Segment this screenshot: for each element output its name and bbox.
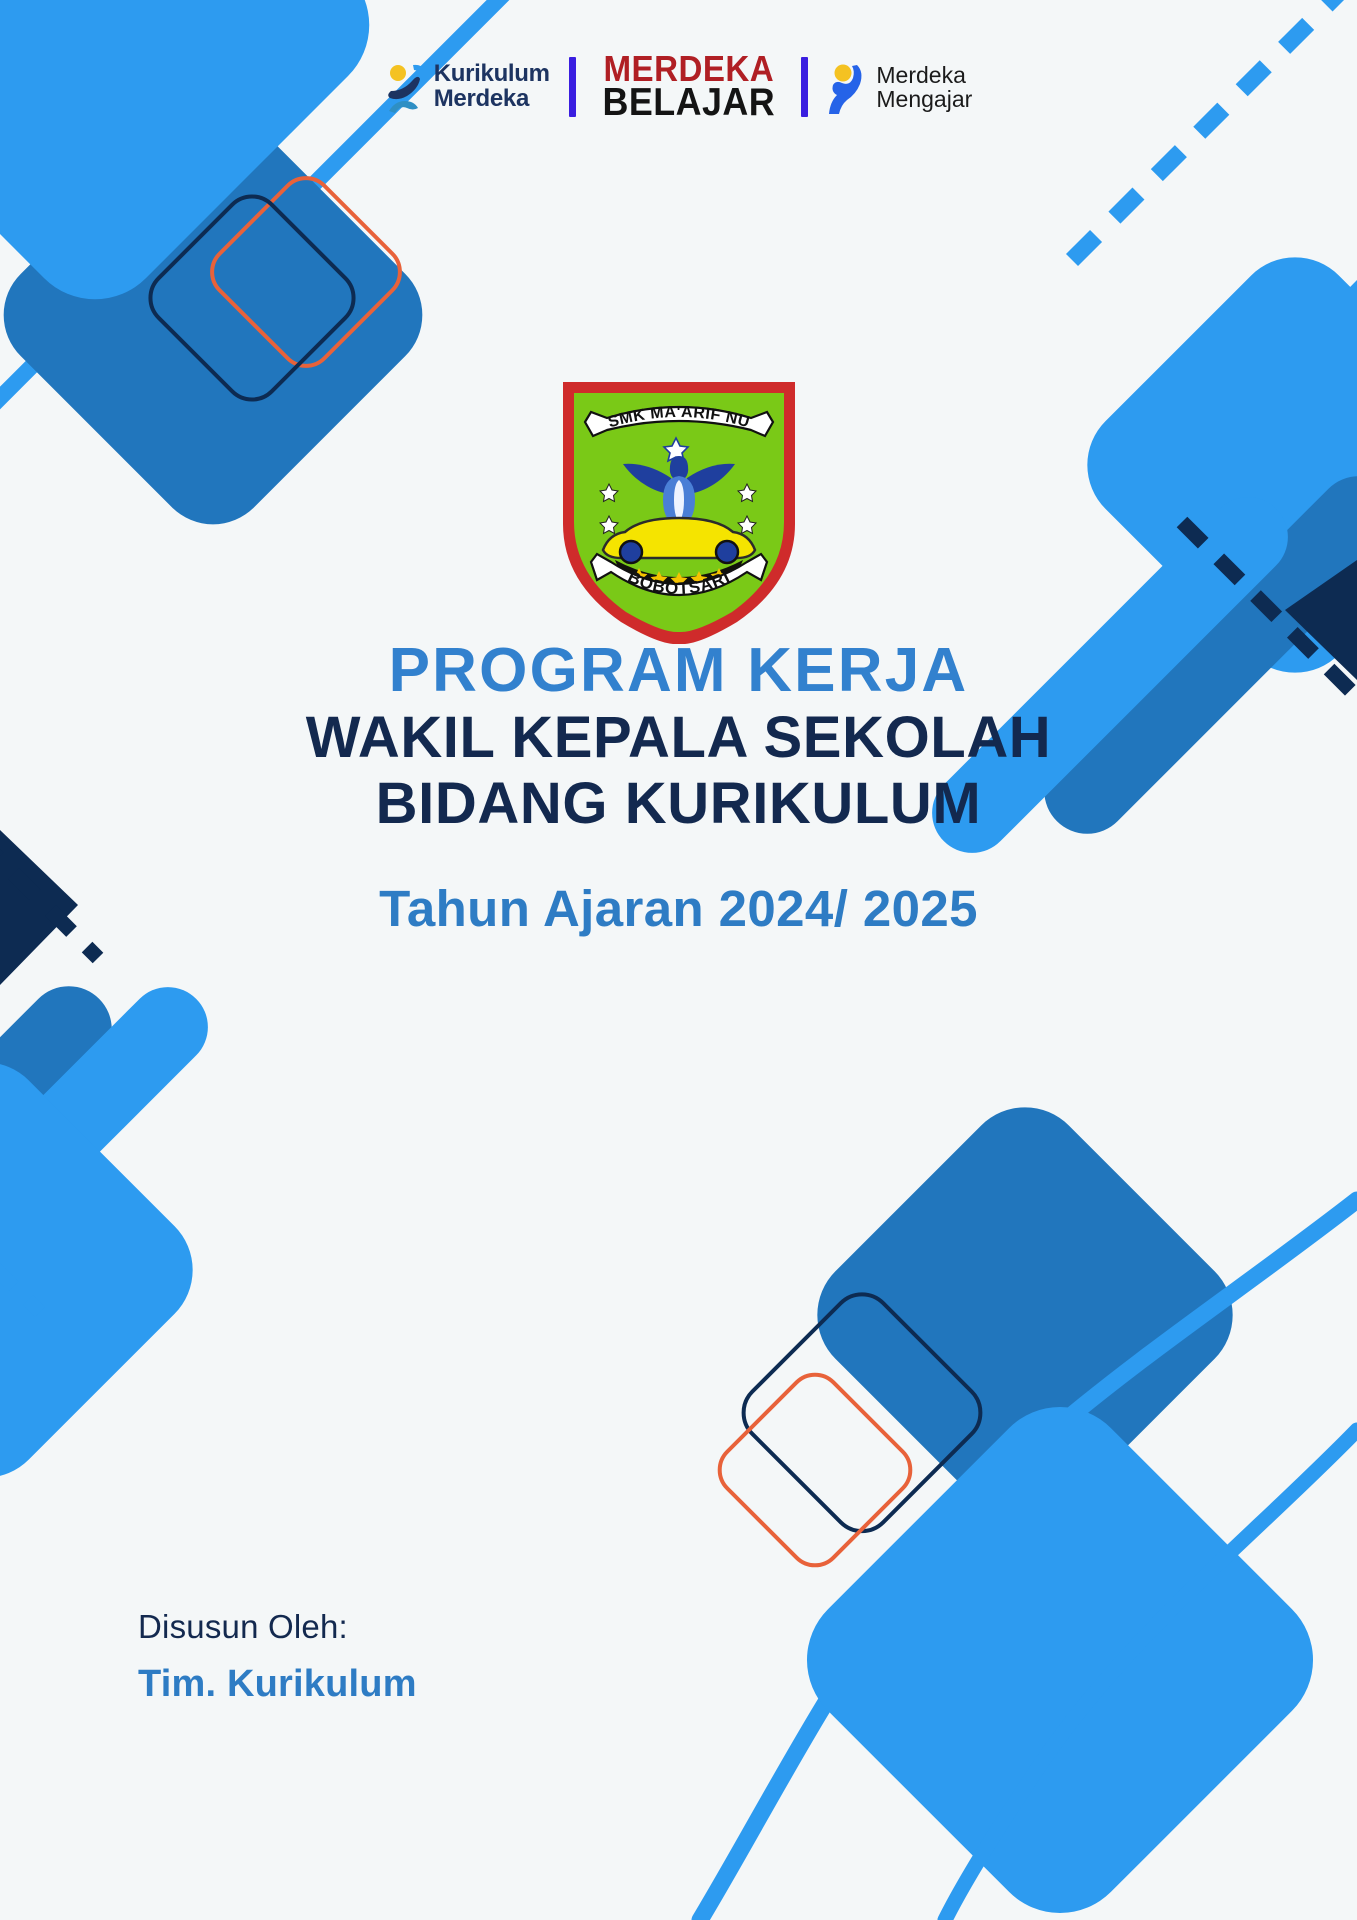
logo-merdeka-belajar: MERDEKA BELAJAR — [595, 52, 783, 122]
logo-merdeka-mengajar: Merdeka Mengajar — [827, 60, 972, 114]
decor-square-bottomright-bright — [777, 1377, 1343, 1920]
decor-square-outline-orange-topleft — [201, 167, 410, 376]
emblem-container: SMK MA'ARIF NU — [0, 374, 1357, 644]
logo-kurikulum-merdeka: Kurikulum Merdeka — [385, 61, 550, 113]
smk-maarif-nu-bobotsari-logo: SMK MA'ARIF NU — [547, 374, 811, 644]
logo-divider-right — [801, 57, 808, 117]
decor-square-outline-orange-bottomright — [709, 1364, 921, 1576]
decor-bar-left-mid — [0, 968, 130, 1361]
emblem-eagle-head — [669, 456, 687, 478]
logo-divider-left — [569, 57, 576, 117]
decor-dashed-line-left-b — [0, 1110, 160, 1310]
academic-year: Tahun Ajaran 2024/ 2025 — [0, 879, 1357, 938]
author-name: Tim. Kurikulum — [138, 1663, 417, 1706]
decor-square-outline-navy-bottomright — [731, 1282, 993, 1544]
merdeka-mengajar-line1: Merdeka — [876, 63, 972, 87]
kurikulum-merdeka-line1: Kurikulum — [434, 62, 550, 86]
merdeka-belajar-line2: BELAJAR — [602, 85, 775, 121]
merdeka-mengajar-line2: Mengajar — [876, 87, 972, 111]
decor-square-topleft-bright — [0, 0, 399, 329]
page-title-line1: PROGRAM KERJA — [0, 636, 1357, 705]
emblem-car-wheel-right — [716, 541, 738, 563]
person-swoosh-icon — [385, 61, 427, 113]
author-label: Disusun Oleh: — [138, 1608, 417, 1646]
document-cover-page: Kurikulum Merdeka MERDEKA BELAJAR Merdek… — [0, 0, 1357, 1920]
title-block: PROGRAM KERJA WAKIL KEPALA SEKOLAH BIDAN… — [0, 636, 1357, 938]
decor-curve-bottomright-blue-2 — [945, 1430, 1357, 1920]
decor-curve-bottomright-blue — [700, 1200, 1357, 1920]
author-block: Disusun Oleh: Tim. Kurikulum — [138, 1608, 417, 1706]
decor-dashed-line-topright — [1072, 0, 1357, 260]
decor-square-bottomright-mid — [792, 1082, 1259, 1549]
page-title-line2: WAKIL KEPALA SEKOLAH — [0, 705, 1357, 771]
decor-dash-left-small — [0, 1268, 40, 1312]
page-title-line3: BIDANG KURIKULUM — [0, 771, 1357, 837]
kurikulum-merdeka-line2: Merdeka — [434, 87, 550, 111]
person-raised-arms-icon — [827, 60, 867, 114]
decor-square-bottomleft-bright — [0, 1037, 218, 1504]
emblem-car-wheel-left — [620, 541, 642, 563]
decor-bar-left-bright — [0, 971, 224, 1360]
merdeka-belajar-line1: MERDEKA — [602, 52, 775, 85]
logo-bar: Kurikulum Merdeka MERDEKA BELAJAR Merdek… — [0, 52, 1357, 122]
